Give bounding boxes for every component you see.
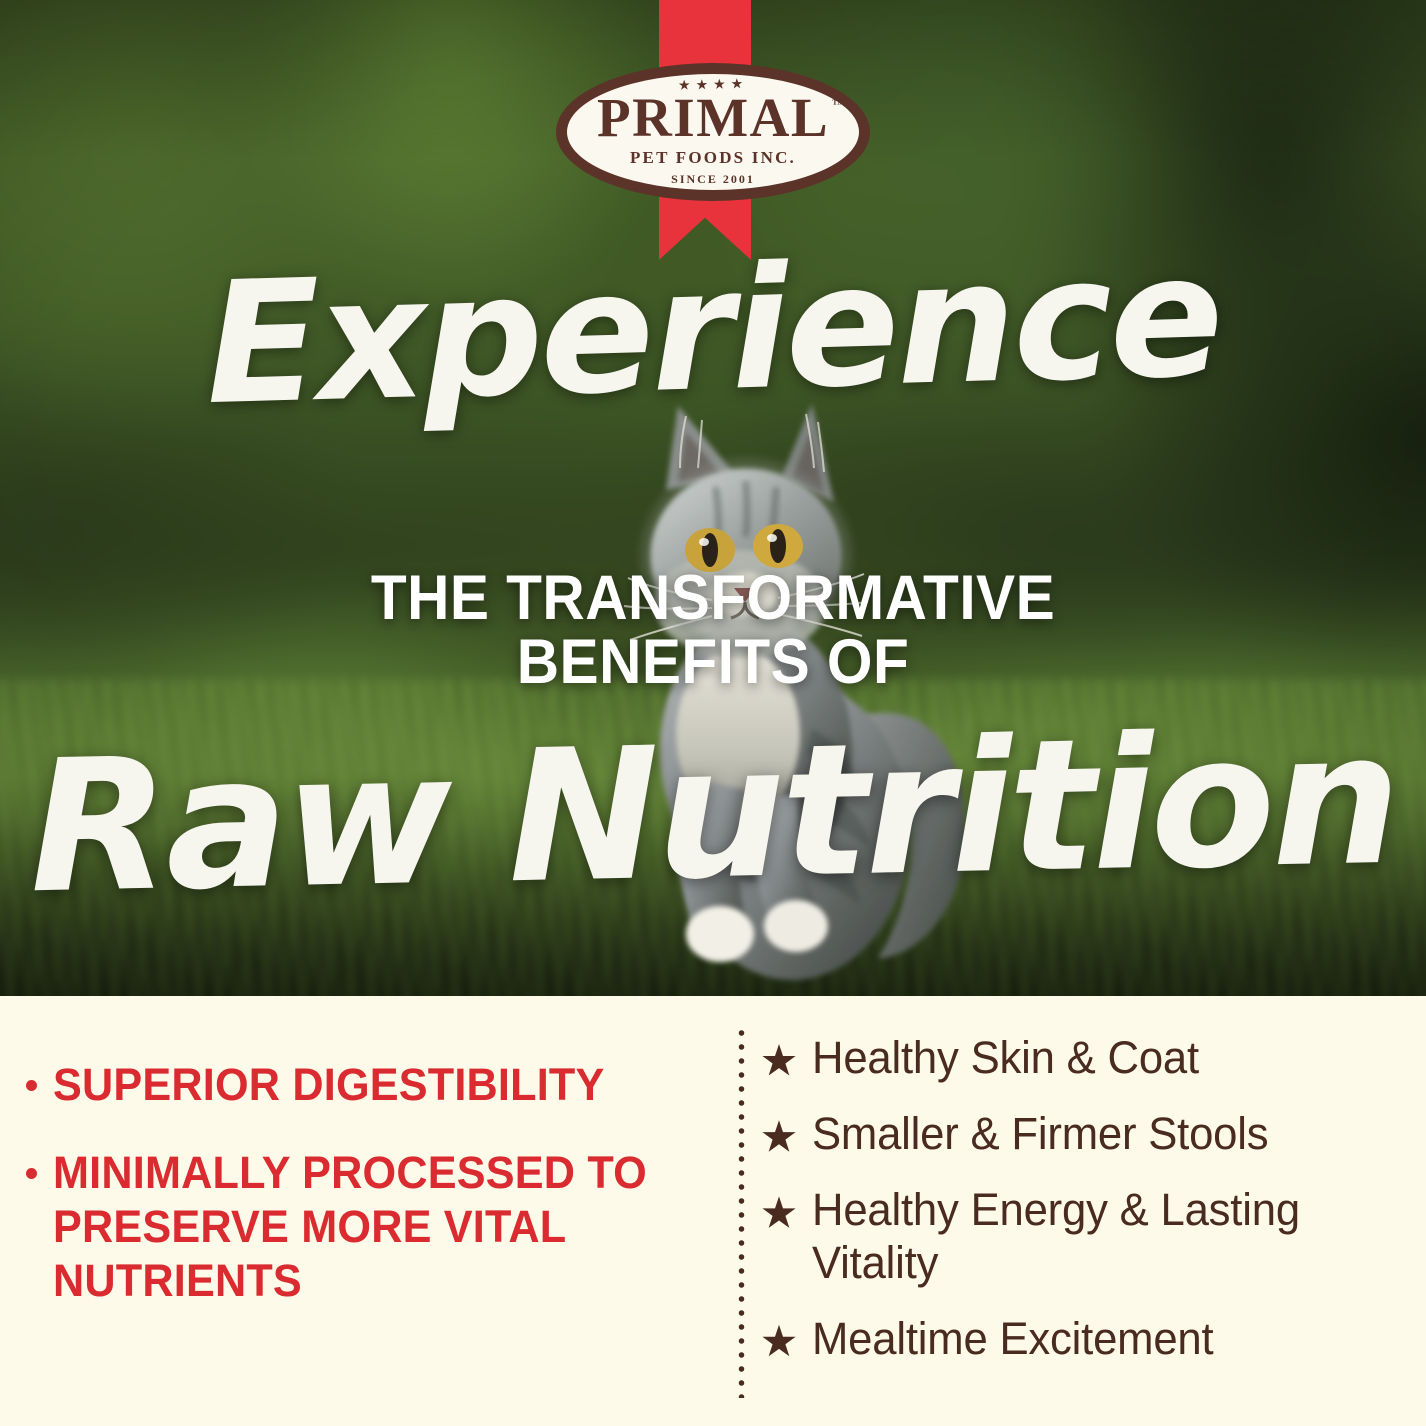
hero-headline: THE TRANSFORMATIVE BENEFITS OF [50, 566, 1376, 695]
benefits-left-column: SUPERIOR DIGESTIBILITY MINIMALLY PROCESS… [0, 996, 700, 1426]
bullet-dot-icon [26, 1080, 37, 1091]
hero-headline-line-1: THE TRANSFORMATIVE [50, 566, 1376, 630]
list-item-label: MINIMALLY PROCESSED TO PRESERVE MORE VIT… [53, 1146, 651, 1308]
list-item-label: Healthy Energy & Lasting Vitality [812, 1184, 1398, 1288]
logo-wordmark: PRIMAL™ [597, 92, 829, 145]
star-icon [762, 1196, 796, 1230]
bullet-dot-icon [26, 1168, 37, 1179]
list-item: SUPERIOR DIGESTIBILITY [26, 1058, 676, 1112]
logo-brand-name: PRIMAL [597, 87, 829, 148]
hero-headline-line-2: BENEFITS OF [50, 630, 1376, 694]
benefits-right-column: Healthy Skin & Coat Smaller & Firmer Sto… [700, 996, 1426, 1426]
trademark-icon: ™ [832, 98, 845, 110]
list-item-label: Healthy Skin & Coat [812, 1032, 1199, 1084]
logo-since-text: SINCE 2001 [671, 172, 755, 187]
hero-script-line-1: Experience [0, 226, 1426, 434]
list-item-label: SUPERIOR DIGESTIBILITY [53, 1058, 604, 1112]
dotted-column-divider [738, 1026, 745, 1398]
list-item: Mealtime Excitement [762, 1313, 1416, 1365]
list-item: Smaller & Firmer Stools [762, 1108, 1416, 1160]
star-icon [762, 1120, 796, 1154]
hero-script-line-2: Raw Nutrition [0, 707, 1426, 919]
list-item-label: Mealtime Excitement [812, 1313, 1213, 1365]
list-item: MINIMALLY PROCESSED TO PRESERVE MORE VIT… [26, 1146, 676, 1308]
primal-logo[interactable]: ★★★★ PRIMAL™ PET FOODS INC. SINCE 2001 [556, 63, 870, 201]
benefits-panel: SUPERIOR DIGESTIBILITY MINIMALLY PROCESS… [0, 996, 1426, 1426]
star-icon [762, 1044, 796, 1078]
list-item: Healthy Skin & Coat [762, 1032, 1416, 1084]
hero-photo: ★★★★ PRIMAL™ PET FOODS INC. SINCE 2001 E… [0, 0, 1426, 996]
promo-poster: ★★★★ PRIMAL™ PET FOODS INC. SINCE 2001 E… [0, 0, 1426, 1426]
list-item-label: Smaller & Firmer Stools [812, 1108, 1268, 1160]
list-item: Healthy Energy & Lasting Vitality [762, 1184, 1416, 1288]
star-icon [762, 1325, 796, 1359]
logo-subtitle: PET FOODS INC. [630, 148, 796, 168]
